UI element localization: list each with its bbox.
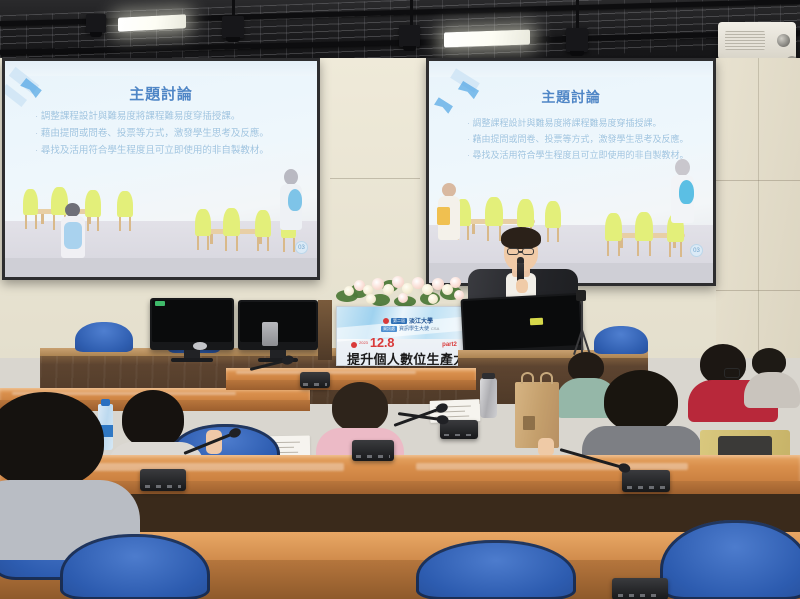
ceiling	[0, 0, 800, 62]
slide-bottom-band-left	[5, 258, 317, 277]
slide-illus-chair-3-right	[517, 199, 534, 227]
presenter-glasses-bridge	[519, 251, 522, 253]
banner-dot-icon	[383, 318, 389, 324]
audience-person-far-right	[744, 348, 800, 404]
presenter-hair	[501, 227, 541, 249]
slide-illus-chair-6-left	[223, 208, 240, 236]
podium-post	[318, 300, 332, 360]
slide-bullets-right: 調整課程設計與難易度將課程難易度穿插授課。 藉由提問或問卷、投票等方式，激發學生…	[467, 117, 689, 166]
slide-illus-person1-head-right	[442, 183, 456, 197]
spotlight-1	[86, 14, 106, 33]
front-monitor-left-screen	[152, 300, 232, 342]
flower-arrangement	[336, 272, 466, 308]
monitor-sticker-green	[155, 301, 165, 306]
banner-date: 12.8	[370, 335, 394, 350]
wall-seam-center	[330, 178, 420, 179]
slide-bullet-2-right: 藉由提問或問卷、投票等方式，激發學生思考及反應。	[467, 133, 689, 145]
slide-title-right: 主題討論	[429, 87, 713, 107]
kraft-paper-bag	[515, 382, 559, 448]
ceiling-arm-3	[576, 0, 579, 28]
banner-row-subtitle: 資訊處 資訊學生大使 CSA	[381, 325, 439, 332]
slide-bullets-left: 調整課程設計與難易度將課程難易度穿插授課。 藉由提問或問卷、投票等方式，激發學生…	[35, 111, 269, 162]
slide-illus-person2-right	[669, 159, 697, 233]
banner-csa: CSA	[431, 326, 439, 331]
slide-page-number-right: 03	[690, 244, 703, 257]
paper-bag-logo	[523, 416, 535, 430]
banner-part: part2	[442, 342, 457, 348]
banner-university: 淡江大學	[409, 316, 433, 325]
audience-person-far-right-body	[744, 372, 800, 408]
ceiling-projector	[718, 22, 796, 60]
audience-person-front-left	[0, 392, 140, 552]
audience-hand-grey	[538, 438, 554, 456]
slide-illus-chair-2-right	[485, 197, 503, 226]
slide-illus-chair-1-left	[23, 189, 38, 215]
slide-bullet-3-left: 尋找及活用符合學生程度且可立即使用的非自製教材。	[35, 145, 269, 158]
audience-person-grey-head	[604, 370, 678, 432]
slide-illus-chair-4-right	[545, 201, 561, 228]
presenter-glasses-left	[507, 248, 519, 255]
slide-page-number-left: 03	[295, 241, 308, 254]
audience-person-red-head	[700, 344, 746, 384]
banner-date-year: 2023	[359, 340, 368, 345]
audience-person-red-glasses	[724, 368, 740, 378]
slide-illus-person2-bag-right	[679, 180, 694, 204]
projector-vent	[725, 31, 765, 50]
slide-illus-student-left	[59, 203, 89, 263]
desktop-tower	[262, 322, 278, 346]
stainless-thermos	[480, 378, 497, 418]
banner-row-university: 第二屆 淡江大學	[383, 316, 433, 325]
slide-illus-person1-bag-right	[437, 207, 450, 225]
slide-illus-person2-head-left	[284, 169, 298, 185]
front-monitor-right	[238, 300, 318, 350]
front-monitor-right-screen	[240, 302, 316, 342]
banner-subtitle: 資訊學生大使	[399, 325, 429, 332]
wall-seam-vert	[758, 58, 759, 358]
ceiling-arm-1	[232, 0, 235, 16]
spotlight-4	[566, 28, 588, 52]
desk-microphone-base-4	[622, 470, 670, 492]
lecture-hall-photo: 主題討論 調整課程設計與難易度將課程難易度穿插授課。 藉由提問或問卷、投票等方式…	[0, 0, 800, 599]
computer-mouse	[193, 342, 207, 350]
slide-illus-student-head-left	[65, 203, 80, 217]
slide-illus-chair-7-left	[255, 210, 271, 237]
slide-illus-person1-right	[437, 183, 463, 251]
camera-tripod	[572, 290, 592, 356]
slide-illus-chair-5-left	[195, 209, 211, 236]
banner-chip-sub: 資訊處	[381, 326, 397, 332]
presenter-hand-mic	[516, 279, 528, 293]
slide-bullet-2-left: 藉由提問或問卷、投票等方式，激發學生思考及反應。	[35, 128, 269, 141]
banner-chip-left: 第二屆	[391, 318, 407, 324]
light-panel-right	[444, 29, 530, 47]
spotlight-2	[222, 16, 244, 38]
monitor-label-tag	[530, 318, 543, 326]
audience-person-pink-head	[332, 382, 388, 432]
slide-illus-person2-left	[279, 169, 305, 239]
slide-title-left: 主題討論	[5, 83, 317, 104]
banner-dot-icon-2	[351, 342, 357, 348]
front-chair-right	[594, 326, 648, 354]
projector-lens	[777, 34, 790, 47]
slide-left: 主題討論 調整課程設計與難易度將課程難易度穿插授課。 藉由提問或問卷、投票等方式…	[5, 61, 317, 277]
slide-bullet-1-right: 調整課程設計與難易度將課程難易度穿插授課。	[467, 117, 689, 129]
slide-illus-person2-bag-left	[288, 189, 302, 211]
slide-illus-person2-head-right	[675, 159, 690, 176]
slide-illus-chair-4-left	[117, 191, 133, 217]
podium-monitor-screen	[463, 295, 581, 351]
banner-row-date: 2023 12.8 part2	[351, 335, 457, 350]
slide-bullet-3-right: 尋找及活用符合學生程度且可立即使用的非自製教材。	[467, 149, 689, 161]
slide-top-strip-right	[429, 61, 713, 77]
slide-top-strip-left	[5, 61, 317, 76]
slide-illus-chair-6-right	[635, 212, 653, 241]
front-chair-left	[75, 322, 133, 352]
event-banner: 第二屆 淡江大學 資訊處 資訊學生大使 CSA 2023 12.8 part2 …	[336, 306, 464, 366]
slide-bullet-1-left: 調整課程設計與難易度將課程難易度穿插授課。	[35, 111, 269, 124]
slide-illus-backpack-left	[64, 222, 82, 249]
camera-head	[576, 290, 586, 301]
desk-microphone-base-1	[140, 469, 186, 491]
banner-headline: 提升個人數位生產力	[347, 349, 464, 366]
presenter-glasses-right	[522, 248, 534, 255]
ceiling-arm-2	[410, 0, 413, 25]
spotlight-3	[399, 25, 420, 47]
desk-microphone-base-6	[612, 578, 668, 599]
audience-person-front-left-head	[0, 392, 104, 488]
desk-microphone-base-2	[352, 440, 394, 461]
slide-illus-chair-5-right	[605, 213, 622, 241]
projection-screen-left: 主題討論 調整課程設計與難易度將課程難易度穿插授課。 藉由提問或問卷、投票等方式…	[2, 58, 320, 280]
